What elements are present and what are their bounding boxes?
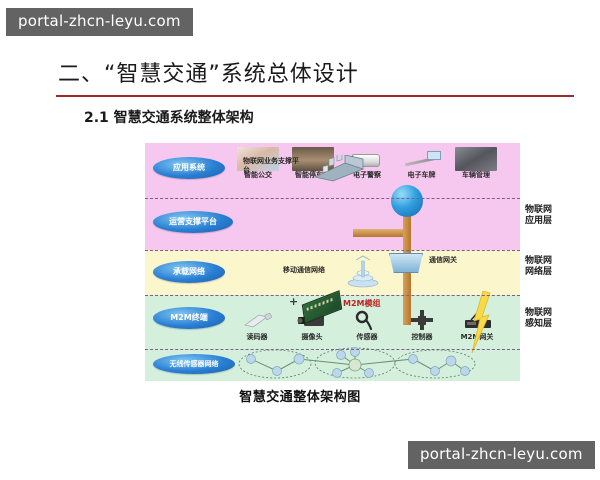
layer-label-perception: 物联网 感知层	[525, 308, 573, 331]
m2m-item: 传感器	[343, 309, 391, 342]
electronic-plate-icon	[401, 147, 443, 171]
controller-icon	[402, 309, 442, 331]
server-rack-icon	[313, 155, 365, 183]
application-item: 电子车牌	[397, 147, 447, 180]
sensor-node-icon	[446, 356, 456, 366]
cell-tower-icon	[343, 255, 383, 289]
oval-label-wsn: 无线传感器网络	[153, 354, 235, 374]
globe-icon	[391, 185, 423, 217]
sensor-node-icon	[409, 355, 418, 364]
m2m-item-label: 传感器	[343, 332, 391, 342]
lightning-bolt-icon	[471, 291, 491, 353]
m2m-icon-row: 读码器 摄像头 传感器	[233, 309, 501, 342]
layer-label-application: 物联网 应用层	[525, 205, 573, 228]
layer-label-application-line1: 物联网	[525, 205, 573, 216]
title-divider	[56, 95, 574, 97]
m2m-item-label: 读码器	[233, 332, 281, 342]
sensor-icon	[347, 309, 387, 331]
sensor-node-icon	[273, 367, 282, 376]
code-reader-icon	[237, 309, 277, 331]
communication-gateway-label: 通信网关	[429, 255, 457, 265]
sensor-node-icon	[247, 355, 256, 364]
sensor-node-icon	[365, 369, 374, 378]
layer-label-perception-line2: 感知层	[525, 319, 573, 330]
watermark-top: portal-zhcn-leyu.com	[6, 8, 193, 36]
m2m-item: 读码器	[233, 309, 281, 342]
vehicle-management-thumb-icon	[455, 147, 497, 171]
platform-caption: 物联网业务支撑平台	[243, 157, 303, 175]
communication-gateway-icon	[389, 253, 423, 273]
mobile-network-label: 移动通信网络	[283, 265, 325, 275]
sensor-node-icon	[333, 369, 342, 378]
layer-label-network-line1: 物联网	[525, 256, 573, 267]
oval-label-platform: 运营支撑平台	[153, 211, 233, 233]
application-item-label: 车辆管理	[451, 172, 501, 180]
band-separator-4	[145, 349, 520, 350]
oval-label-m2m: M2M终端	[153, 307, 225, 329]
layer-label-perception-line1: 物联网	[525, 308, 573, 319]
sensor-network-graph	[237, 347, 481, 381]
sensor-node-icon	[294, 354, 304, 364]
application-item: 车辆管理	[451, 147, 501, 180]
layer-label-network: 物联网 网络层	[525, 256, 573, 279]
section-heading: 2.1 智慧交通系统整体架构	[84, 107, 254, 127]
plus-icon: +	[289, 295, 298, 308]
sensor-node-icon	[337, 351, 346, 360]
page-title: 二、“智慧交通”系统总体设计	[58, 56, 359, 88]
m2m-item: 控制器	[398, 309, 446, 342]
sensor-node-icon	[431, 367, 440, 376]
band-separator-1	[145, 198, 520, 199]
sensor-node-icon	[461, 367, 470, 376]
sensor-node-icon	[349, 359, 361, 371]
oval-label-network: 承载网络	[153, 261, 225, 283]
band-separator-2	[145, 250, 520, 251]
architecture-diagram: 应用系统 运营支撑平台 承载网络 M2M终端 无线传感器网络 物联网 应用层 物…	[145, 143, 520, 381]
application-item-label: 电子车牌	[397, 172, 447, 180]
m2m-module-label: M2M模组	[343, 298, 381, 309]
layer-label-network-line2: 网络层	[525, 267, 573, 278]
diagram-caption: 智慧交通整体架构图	[0, 386, 600, 405]
m2m-item-label: 控制器	[398, 332, 446, 342]
oval-label-application: 应用系统	[153, 157, 225, 179]
m2m-item-label: 摄像头	[288, 332, 336, 342]
watermark-bottom: portal-zhcn-leyu.com	[408, 441, 595, 469]
layer-label-application-line2: 应用层	[525, 216, 573, 227]
